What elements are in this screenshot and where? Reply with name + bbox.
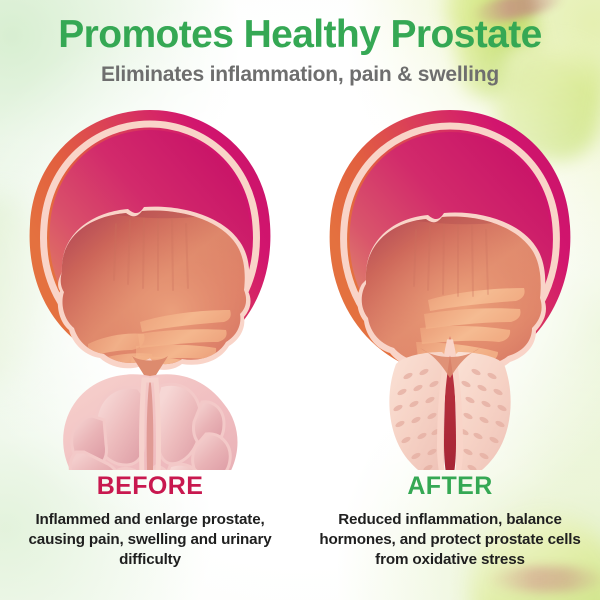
- infographic-poster: Promotes Healthy Prostate Eliminates inf…: [0, 0, 600, 600]
- caption-before: BEFORE Inflammed and enlarge prostate, c…: [0, 472, 300, 570]
- header: Promotes Healthy Prostate Eliminates inf…: [0, 0, 600, 87]
- panel-after: AFTER Reduced inflammation, balance horm…: [300, 104, 600, 600]
- comparison-panels: BEFORE Inflammed and enlarge prostate, c…: [0, 104, 600, 600]
- enlarged-prostate-diagram: [4, 104, 296, 470]
- status-badge-before: BEFORE: [0, 472, 300, 501]
- status-badge-after: AFTER: [300, 472, 600, 501]
- panel-before: BEFORE Inflammed and enlarge prostate, c…: [0, 104, 300, 600]
- caption-after: AFTER Reduced inflammation, balance horm…: [300, 472, 600, 570]
- page-subtitle: Eliminates inflammation, pain & swelling: [0, 62, 600, 87]
- prostate-lobe-left: [389, 352, 444, 470]
- caption-text-before: Inflammed and enlarge prostate, causing …: [8, 510, 292, 570]
- caption-text-after: Reduced inflammation, balance hormones, …: [308, 510, 592, 570]
- enlarged-prostate-gland: [63, 374, 237, 470]
- page-title: Promotes Healthy Prostate: [0, 14, 600, 56]
- prostate-lobe-right: [456, 352, 511, 470]
- healthy-prostate-diagram: [304, 104, 596, 470]
